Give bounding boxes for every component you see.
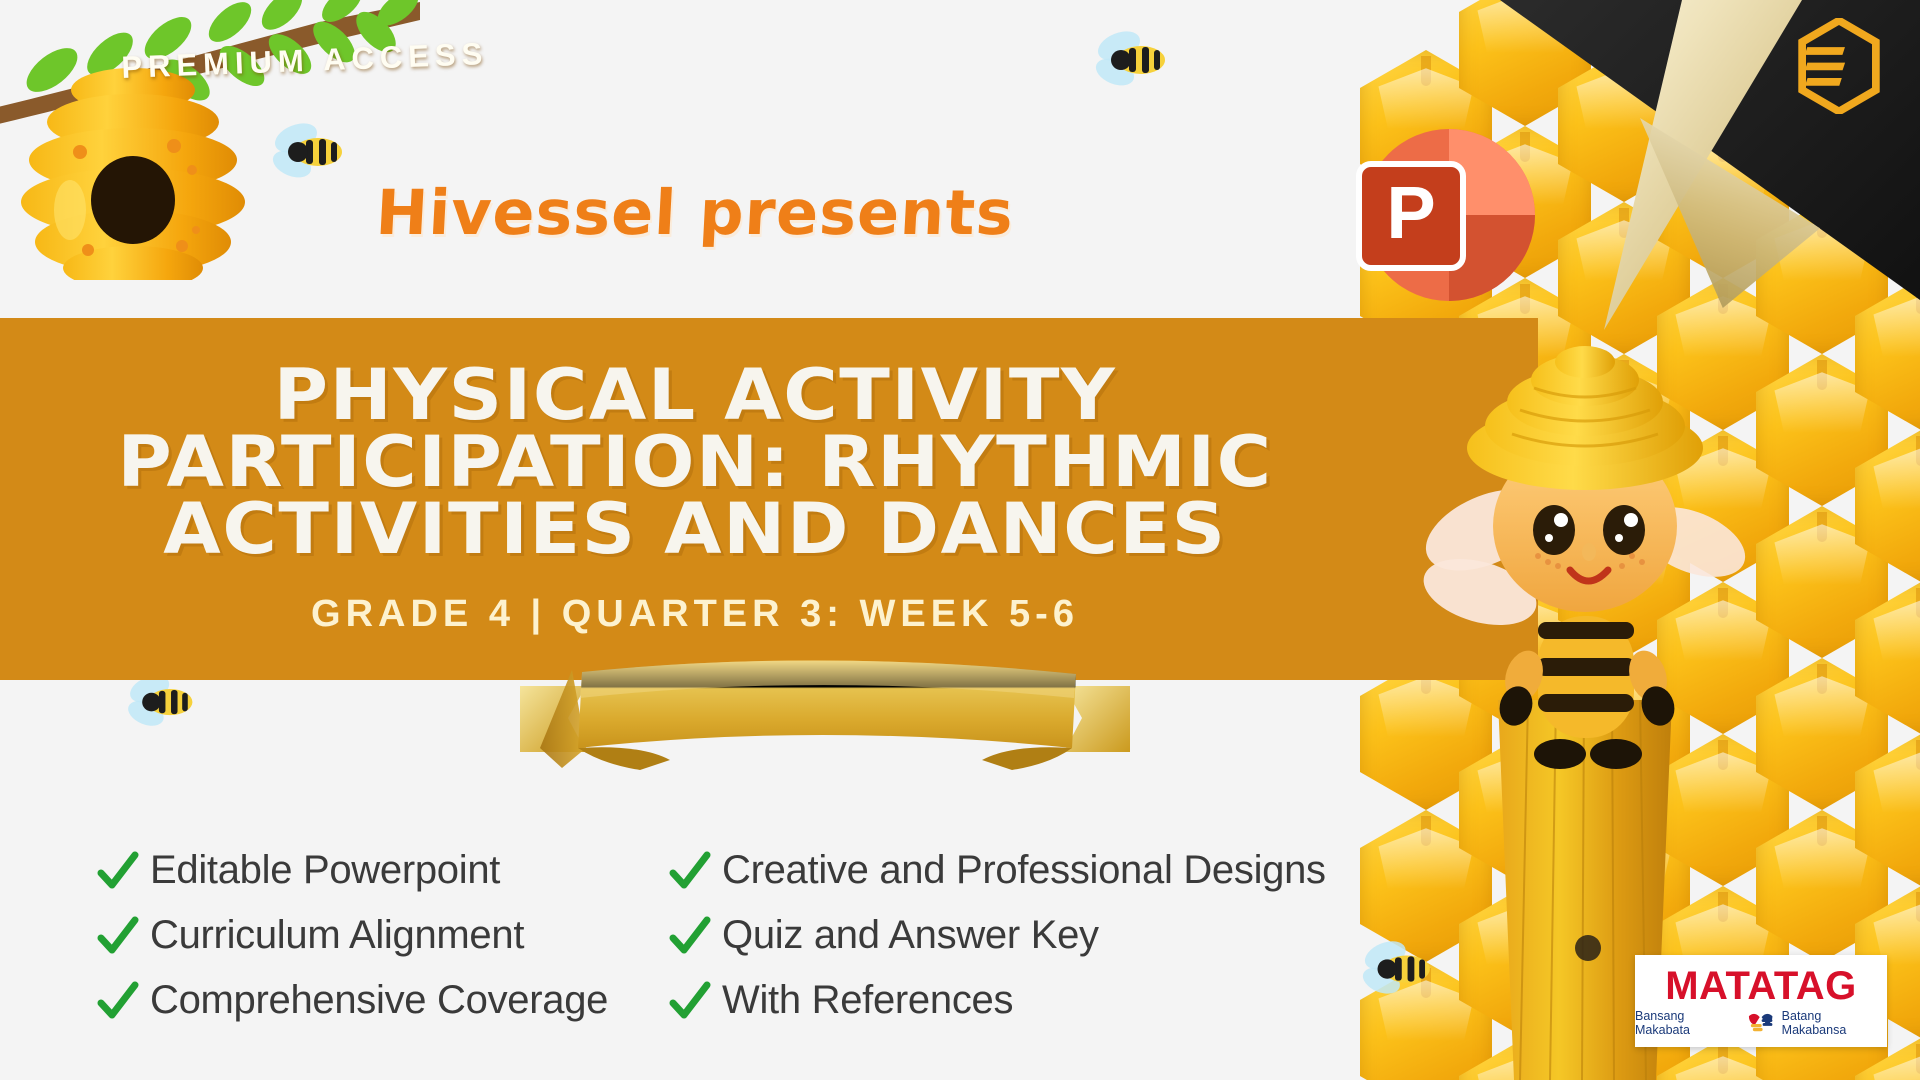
list-item: With References — [668, 978, 1368, 1023]
list-item: Comprehensive Coverage — [96, 978, 616, 1023]
list-item: Creative and Professional Designs — [668, 848, 1368, 893]
matatag-tagline-right: Batang Makabansa — [1782, 1009, 1887, 1037]
matatag-wordmark: MATATAG — [1665, 966, 1857, 1006]
powerpoint-icon: P — [1345, 120, 1535, 310]
feature-list: Editable Powerpoint Curriculum Alignment… — [96, 848, 1526, 1023]
check-icon — [668, 914, 712, 958]
check-icon — [668, 849, 712, 893]
handshake-heart-icon — [1746, 1012, 1775, 1034]
feature-label: Quiz and Answer Key — [722, 913, 1099, 958]
bee-icon — [1085, 28, 1171, 94]
feature-label: Comprehensive Coverage — [150, 978, 608, 1023]
list-item: Editable Powerpoint — [96, 848, 616, 893]
premium-ribbon — [520, 652, 1130, 782]
matatag-tagline-left: Bansang Makabata — [1635, 1009, 1740, 1037]
title-band: Physical Activity Participation: Rhythmi… — [0, 318, 1538, 680]
feature-label: Editable Powerpoint — [150, 848, 500, 893]
list-item: Curriculum Alignment — [96, 913, 616, 958]
brand-presents-text: Hivessel presents — [0, 176, 1392, 249]
check-icon — [96, 849, 140, 893]
feature-label: Creative and Professional Designs — [722, 848, 1326, 893]
bee-icon — [118, 672, 198, 734]
check-icon — [96, 914, 140, 958]
feature-label: Curriculum Alignment — [150, 913, 524, 958]
feature-column-right: Creative and Professional Designs Quiz a… — [668, 848, 1368, 1023]
feature-label: With References — [722, 978, 1013, 1023]
bee-mascot-icon — [1420, 330, 1750, 770]
matatag-tagline: Bansang Makabata Batang Makabansa — [1635, 1009, 1887, 1037]
poster-canvas: Physical Activity Participation: Rhythmi… — [0, 0, 1920, 1080]
hexagon-logo-icon — [1796, 18, 1882, 114]
feature-column-left: Editable Powerpoint Curriculum Alignment… — [96, 848, 616, 1023]
page-title: Physical Activity Participation: Rhythmi… — [0, 362, 1432, 564]
check-icon — [96, 979, 140, 1023]
grade-quarter-subtitle: GRADE 4 | QUARTER 3: WEEK 5-6 — [311, 593, 1079, 636]
matatag-logo: MATATAG Bansang Makabata Batang Makabans… — [1635, 955, 1887, 1047]
list-item: Quiz and Answer Key — [668, 913, 1368, 958]
check-icon — [668, 979, 712, 1023]
svg-text:P: P — [1386, 171, 1435, 254]
